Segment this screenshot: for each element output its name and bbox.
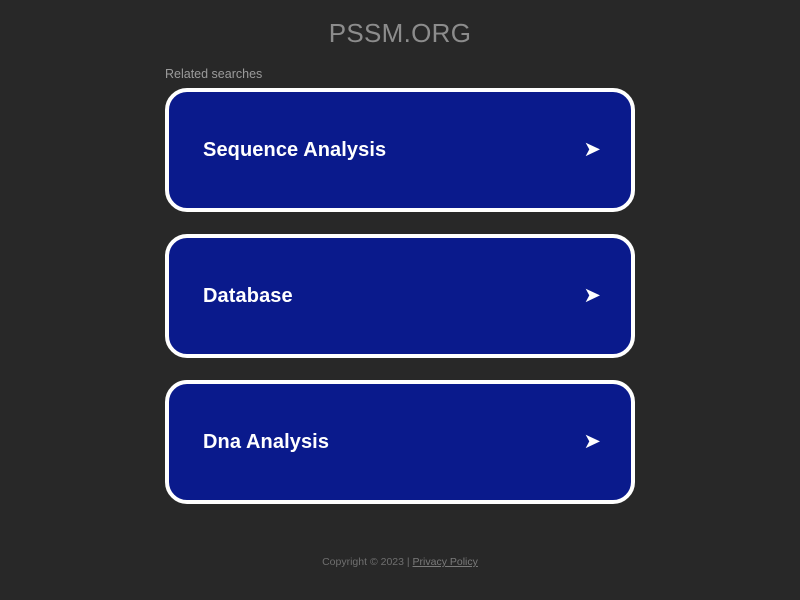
- related-searches-list: Sequence Analysis ➤ Database ➤ Dna Analy…: [165, 88, 635, 504]
- footer: Copyright © 2023 | Privacy Policy: [0, 555, 800, 569]
- related-search-card-sequence-analysis[interactable]: Sequence Analysis ➤: [165, 88, 635, 212]
- arrow-right-icon: ➤: [583, 284, 601, 308]
- related-searches-label: Related searches: [165, 67, 262, 82]
- footer-separator: |: [407, 556, 410, 568]
- page-title: PSSM.ORG: [0, 18, 800, 48]
- privacy-policy-link[interactable]: Privacy Policy: [413, 556, 478, 568]
- card-label: Sequence Analysis: [203, 138, 386, 162]
- arrow-right-icon: ➤: [583, 430, 601, 454]
- arrow-right-icon: ➤: [583, 138, 601, 162]
- related-search-card-dna-analysis[interactable]: Dna Analysis ➤: [165, 380, 635, 504]
- card-label: Database: [203, 284, 293, 308]
- page-root: PSSM.ORG Related searches Sequence Analy…: [0, 0, 800, 600]
- card-label: Dna Analysis: [203, 430, 329, 454]
- related-search-card-database[interactable]: Database ➤: [165, 234, 635, 358]
- copyright-text: Copyright © 2023: [322, 556, 404, 568]
